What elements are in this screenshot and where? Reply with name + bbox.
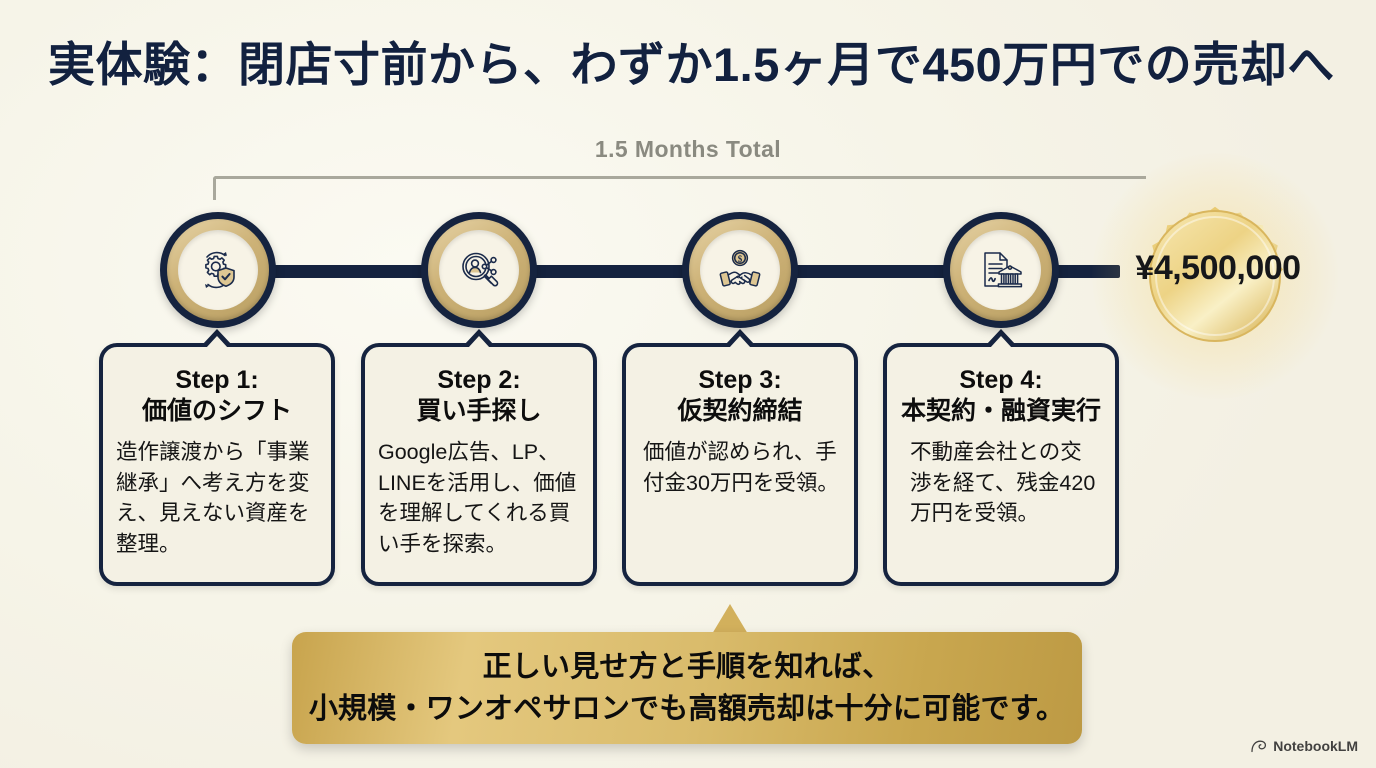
node-inner-circle: [178, 230, 258, 310]
node-gold-ring: $: [689, 219, 791, 321]
step-card-heading: Step 3: 仮契約締結: [639, 365, 841, 427]
seal-amount-label: ¥4,500,000: [1108, 249, 1328, 288]
step-card-1[interactable]: Step 1: 価値のシフト 造作譲渡から「事業継承」へ考え方を変え、見えない資…: [99, 343, 335, 586]
page-title: 実体験：閉店寸前から、わずか1.5ヶ月で450万円での売却へ: [48, 26, 1335, 95]
step-card-heading: Step 2: 買い手探し: [378, 365, 580, 427]
timeline-node-2[interactable]: [421, 212, 537, 328]
step-card-4[interactable]: Step 4: 本契約・融資実行 不動産会社との交渉を経て、残金420万円を受領…: [883, 343, 1119, 586]
node-gold-ring: [428, 219, 530, 321]
slide-canvas: 実体験：閉店寸前から、わずか1.5ヶ月で450万円での売却へ 1.5 Month…: [0, 0, 1376, 768]
node-gold-ring: [167, 219, 269, 321]
step-card-heading: Step 1: 価値のシフト: [116, 365, 318, 427]
node-inner-circle: $: [700, 230, 780, 310]
timeline-node-3[interactable]: $: [682, 212, 798, 328]
node-gold-ring: [950, 219, 1052, 321]
notebooklm-watermark: NotebookLM: [1250, 738, 1358, 754]
conclusion-banner-text: 正しい見せ方と手順を知れば、 小規模・ワンオペサロンでも高額売却は十分に可能です…: [309, 646, 1065, 730]
handshake-coin-icon: $: [715, 245, 765, 295]
step-card-body: 造作譲渡から「事業継承」へ考え方を変え、見えない資産を整理。: [116, 437, 318, 559]
step-card-body: Google広告、LP、LINEを活用し、価値を理解してくれる買い手を探索。: [378, 437, 580, 559]
conclusion-banner[interactable]: 正しい見せ方と手順を知れば、 小規模・ワンオペサロンでも高額売却は十分に可能です…: [292, 632, 1082, 744]
notebooklm-logo-icon: [1250, 739, 1267, 754]
notebooklm-label: NotebookLM: [1273, 738, 1358, 754]
step-card-heading: Step 4: 本契約・融資実行: [900, 365, 1102, 427]
timeline-duration-bracket: [213, 176, 1146, 200]
node-inner-circle: [961, 230, 1041, 310]
timeline-node-4[interactable]: [943, 212, 1059, 328]
gear-shield-icon: [193, 245, 243, 295]
step-card-body: 不動産会社との交渉を経て、残金420万円を受領。: [900, 437, 1102, 529]
svg-text:$: $: [738, 254, 743, 264]
magnifier-person-network-icon: [454, 245, 504, 295]
step-card-2[interactable]: Step 2: 買い手探し Google広告、LP、LINEを活用し、価値を理解…: [361, 343, 597, 586]
step-card-3[interactable]: Step 3: 仮契約締結 価値が認められ、手付金30万円を受領。: [622, 343, 858, 586]
timeline-duration-label: 1.5 Months Total: [0, 136, 1376, 163]
document-bank-icon: [976, 245, 1026, 295]
banner-pointer-tail: [712, 604, 748, 634]
node-inner-circle: [439, 230, 519, 310]
step-card-body: 価値が認められ、手付金30万円を受領。: [639, 437, 841, 498]
timeline-node-1[interactable]: [160, 212, 276, 328]
